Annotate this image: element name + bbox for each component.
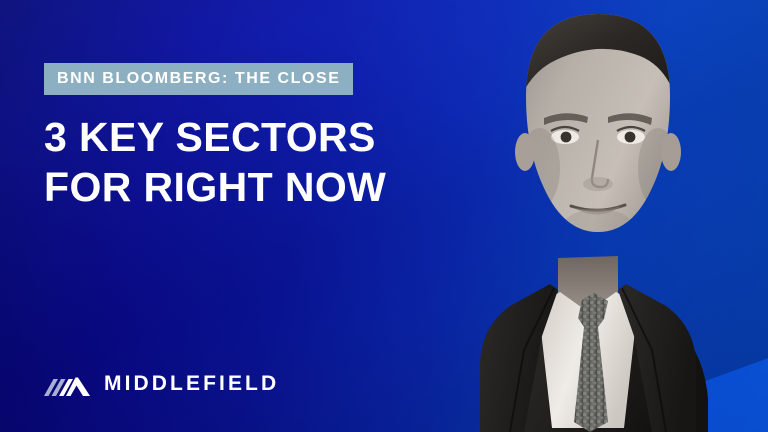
headline-line-1: 3 KEY SECTORS [44, 112, 464, 162]
headline: 3 KEY SECTORS FOR RIGHT NOW [44, 112, 464, 212]
eyebrow-label: BNN BLOOMBERG: THE CLOSE [57, 71, 340, 87]
middlefield-chevron-mark-icon [44, 370, 90, 396]
promo-card: BNN BLOOMBERG: THE CLOSE 3 KEY SECTORS F… [0, 0, 768, 432]
middlefield-logo: MIDDLEFIELD [44, 370, 279, 396]
middlefield-wordmark: MIDDLEFIELD [104, 373, 279, 394]
eyebrow-banner: BNN BLOOMBERG: THE CLOSE [44, 63, 353, 95]
headline-line-2: FOR RIGHT NOW [44, 162, 464, 212]
